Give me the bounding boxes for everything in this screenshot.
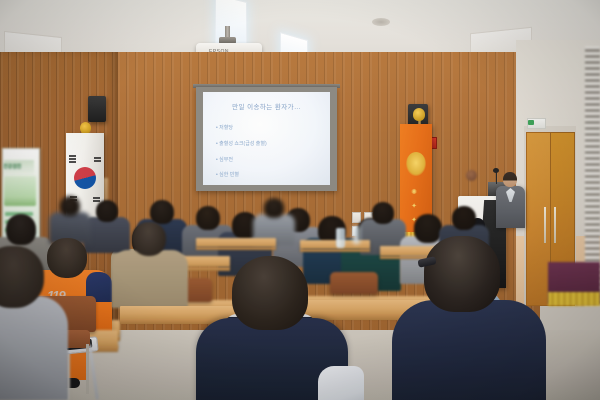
slide-bullet: 저혈당 (216, 124, 233, 131)
attendee-head (6, 214, 36, 245)
attendee-head (150, 200, 174, 224)
ceiling-vent (372, 18, 390, 26)
door-handle[interactable] (544, 207, 546, 243)
desk-edge (300, 249, 370, 252)
attendee-head (132, 222, 166, 256)
flag-glyph: ✦ (402, 202, 426, 210)
trigram-mark (94, 160, 101, 162)
desk-edge (196, 247, 276, 250)
slide-bullet: 출혈성 쇼크(급성 출혈) (216, 140, 267, 147)
varsity-jacket-sleeve (318, 366, 364, 400)
attendee-head (196, 206, 220, 230)
podium-microphone-stem (496, 172, 497, 184)
trigram-mark (94, 157, 101, 159)
trigram-mark (69, 161, 76, 163)
attendee-head (232, 256, 308, 330)
attendee-head (60, 196, 80, 216)
trigram-mark (69, 158, 76, 160)
banner-title-text: 건강검진 (3, 163, 29, 170)
trigram-mark (93, 197, 100, 199)
student-desk (196, 238, 276, 247)
wall-clock (466, 170, 477, 181)
attendee-head (414, 214, 442, 243)
lecture-hall-photo: EPSON 만일 이송하는 환자가… 저혈당 출혈성 쇼크(급성 출혈) 심부전… (0, 0, 600, 400)
slide-title: 만일 이송하는 환자가… (208, 101, 325, 111)
attendee-tan-shirt (112, 250, 188, 308)
student-desk (120, 306, 236, 320)
exit-running-man-icon (528, 120, 534, 125)
slide-bullet: 심한 빈혈 (216, 171, 239, 178)
lecture-chair[interactable] (330, 272, 378, 294)
door-handle[interactable] (554, 207, 556, 243)
table-skirt-trim (548, 292, 600, 306)
attendee-head (264, 198, 284, 218)
attendee-head (424, 236, 500, 312)
attendee-head (452, 206, 476, 230)
podium-microphone (493, 168, 499, 173)
flag-emblem-icon (406, 152, 426, 176)
presenter-head (503, 172, 517, 187)
slide-bullet: 심부전 (216, 156, 233, 163)
chair-frame (86, 344, 89, 394)
responder-head (47, 238, 87, 278)
water-bottle[interactable] (336, 228, 345, 248)
trigram-mark (69, 155, 76, 157)
trigram-mark (93, 200, 100, 202)
water-bottle[interactable] (353, 226, 360, 244)
attendee-head (96, 200, 118, 222)
attendee-head (372, 202, 394, 224)
flag-glyph: ✺ (402, 188, 426, 196)
attendee-navy-sweater-glasses (392, 300, 546, 400)
banner-illustration (4, 176, 36, 206)
flag-finial-icon (413, 108, 425, 121)
wall-speaker-left (88, 96, 106, 122)
attendee-gray-foreground-left (0, 296, 68, 400)
taeguk-circle (74, 167, 96, 189)
